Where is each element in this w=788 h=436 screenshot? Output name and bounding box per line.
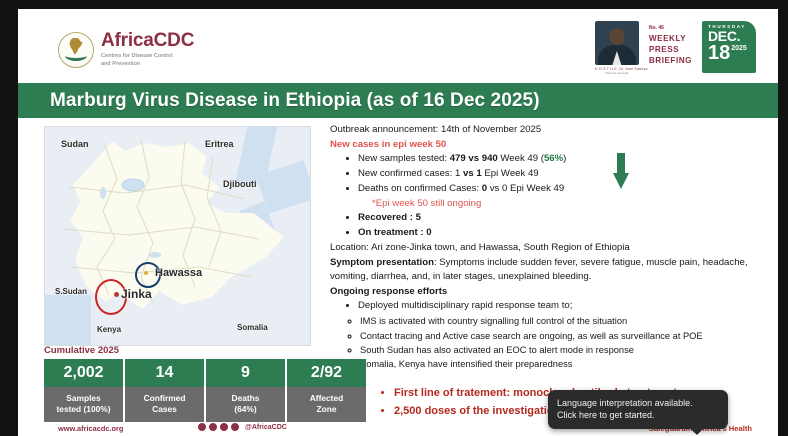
announcement-label: Outbreak announcement: — [330, 124, 438, 135]
tooltip-line-2: Click here to get started. — [557, 409, 719, 421]
response-heading: Ongoing response efforts — [330, 285, 778, 300]
response-sub-bullets: IMS is activated with country signalling… — [330, 314, 778, 372]
bullet-1-label: New confirmed cases: 1 — [358, 168, 463, 179]
new-cases-bullets: New samples tested: 479 vs 940 Week 49 (… — [330, 152, 778, 197]
marker-dot-jinka — [114, 292, 119, 297]
language-interpretation-tooltip[interactable]: Language interpretation available. Click… — [548, 390, 728, 429]
cumulative-heading: Cumulative 2025 — [44, 345, 119, 356]
instagram-icon[interactable] — [231, 423, 239, 431]
list-item: Recovered : 5 — [358, 211, 778, 226]
map-label-kenya: Kenya — [97, 325, 121, 334]
slide-header: AfricaCDC Centres for Disease Controland… — [18, 9, 778, 84]
location-value: : Ari zone-Jinka town, and Hawassa, Sout… — [366, 242, 629, 253]
list-item: On treatment : 0 — [358, 226, 778, 241]
announcement-value: 14th of November 2025 — [438, 124, 541, 135]
list-item: IMS is activated with country signalling… — [360, 314, 778, 328]
location-line: Location: Ari zone-Jinka town, and Hawas… — [330, 241, 778, 256]
stat-label: Deaths (64%) — [206, 387, 285, 423]
logo-tagline-line2: and Prevention — [101, 61, 140, 67]
linkedin-icon[interactable] — [220, 423, 228, 431]
bullet-0-label: New samples tested: — [358, 153, 450, 164]
header-right-cluster: H O S T H.E. Dr Jean Kaseya Director Gen… — [595, 21, 756, 75]
logo-tagline-line1: Centres for Disease Control — [101, 53, 173, 59]
ethiopia-map: Sudan Eritrea Djibouti S.Sudan Kenya Som… — [44, 126, 311, 346]
brand-africa: Africa — [101, 30, 154, 51]
new-cases-heading: New cases in epi week 50 — [330, 138, 778, 153]
bullet-0-tail: ) — [563, 153, 566, 164]
social-icons[interactable]: @AfricaCDC — [198, 423, 287, 431]
date-badge: THURSDAY DEC. 18 2025 — [702, 21, 756, 73]
list-item: New samples tested: 479 vs 940 Week 49 (… — [358, 152, 778, 167]
social-handle: @AfricaCDC — [245, 424, 287, 431]
slide-title-bar: Marburg Virus Disease in Ethiopia (as of… — [18, 83, 778, 118]
list-item: South Sudan has also activated an EOC to… — [360, 343, 778, 357]
stat-cell-zones: 2/92 Affected Zone — [287, 359, 366, 423]
speaker-title: Director General — [595, 71, 639, 75]
stat-label: Samples tested (100%) — [44, 387, 123, 423]
screen-capture: AfricaCDC Centres for Disease Controland… — [0, 0, 788, 436]
map-label-djibouti: Djibouti — [223, 179, 257, 189]
outbreak-details: Outbreak announcement: 14th of November … — [330, 123, 778, 372]
bullet-1-mid: Epi Week 49 — [482, 168, 539, 179]
stat-label: Affected Zone — [287, 387, 366, 423]
presentation-slide: AfricaCDC Centres for Disease Controland… — [18, 9, 778, 436]
map-label-hawassa: Hawassa — [155, 267, 202, 279]
briefing-label-block: No. 46 WEEKLY PRESS BRIEFING — [649, 21, 692, 66]
epi-week-footnote: *Epi week 50 still ongoing — [330, 197, 778, 212]
briefing-line-3: BRIEFING — [649, 55, 692, 66]
footer-url[interactable]: www.africacdc.org — [58, 424, 123, 433]
date-year: 2025 — [731, 45, 747, 52]
symptom-label: Symptom presentation — [330, 257, 434, 268]
speaker-portrait — [595, 21, 639, 65]
stat-cell-confirmed: 14 Confirmed Cases — [125, 359, 204, 423]
africacdc-logo: AfricaCDC Centres for Disease Controland… — [58, 31, 194, 68]
downward-trend-arrow-icon — [613, 153, 629, 191]
list-item: Deployed multidisciplinary rapid respons… — [358, 299, 778, 314]
date-day: 18 — [708, 44, 730, 63]
list-item: New confirmed cases: 1 vs 1 Epi Week 49 — [358, 167, 778, 182]
symptom-line: Symptom presentation: Symptoms include s… — [330, 256, 778, 285]
stat-value: 2/92 — [287, 359, 366, 387]
map-label-ssudan: S.Sudan — [55, 287, 87, 296]
map-label-somalia: Somalia — [237, 323, 268, 332]
stat-value: 2,002 — [44, 359, 123, 387]
map-label-eritrea: Eritrea — [205, 139, 234, 149]
region-boundaries — [45, 127, 310, 345]
stats-table: 2,002 Samples tested (100%) 14 Confirmed… — [44, 359, 366, 423]
speaker-block: H O S T H.E. Dr Jean Kaseya Director Gen… — [595, 21, 639, 75]
map-label-jinka: Jinka — [121, 287, 152, 301]
bullet-2-mid: vs 0 Epi Week 49 — [487, 183, 564, 194]
stat-label: Confirmed Cases — [125, 387, 204, 423]
stat-value: 14 — [125, 359, 204, 387]
briefing-number: No. 46 — [649, 25, 692, 31]
page-title: Marburg Virus Disease in Ethiopia (as of… — [50, 90, 540, 112]
list-item: Contact tracing and Active case search a… — [360, 329, 778, 343]
bullet-0-green: 56% — [544, 153, 563, 164]
stat-cell-deaths: 9 Deaths (64%) — [206, 359, 285, 423]
twitter-icon[interactable] — [209, 423, 217, 431]
response-bullets: Deployed multidisciplinary rapid respons… — [330, 299, 778, 314]
bullet-1-bold: vs 1 — [463, 168, 482, 179]
bullet-0-mid: Week 49 ( — [498, 153, 544, 164]
africacdc-emblem-icon — [58, 32, 94, 68]
marker-dot-hawassa — [144, 271, 148, 275]
stat-cell-samples: 2,002 Samples tested (100%) — [44, 359, 123, 423]
status-bullets: Recovered : 5 On treatment : 0 — [330, 211, 778, 241]
brand-cdc: CDC — [154, 30, 195, 51]
list-item: Deaths on confirmed Cases: 0 vs 0 Epi We… — [358, 182, 778, 197]
location-label: Location — [330, 242, 366, 253]
map-label-sudan: Sudan — [61, 139, 89, 149]
briefing-line-2: PRESS — [649, 44, 692, 55]
briefing-line-1: WEEKLY — [649, 33, 692, 44]
bullet-0-bold: 479 vs 940 — [450, 153, 498, 164]
list-item: Somalia, Kenya have intensified their pr… — [360, 357, 778, 371]
tooltip-line-1: Language interpretation available. — [557, 397, 719, 409]
logo-wordmark: AfricaCDC Centres for Disease Controland… — [101, 31, 194, 68]
facebook-icon[interactable] — [198, 423, 206, 431]
bullet-2-label: Deaths on confirmed Cases: — [358, 183, 482, 194]
stat-value: 9 — [206, 359, 285, 387]
announcement-line: Outbreak announcement: 14th of November … — [330, 123, 778, 138]
